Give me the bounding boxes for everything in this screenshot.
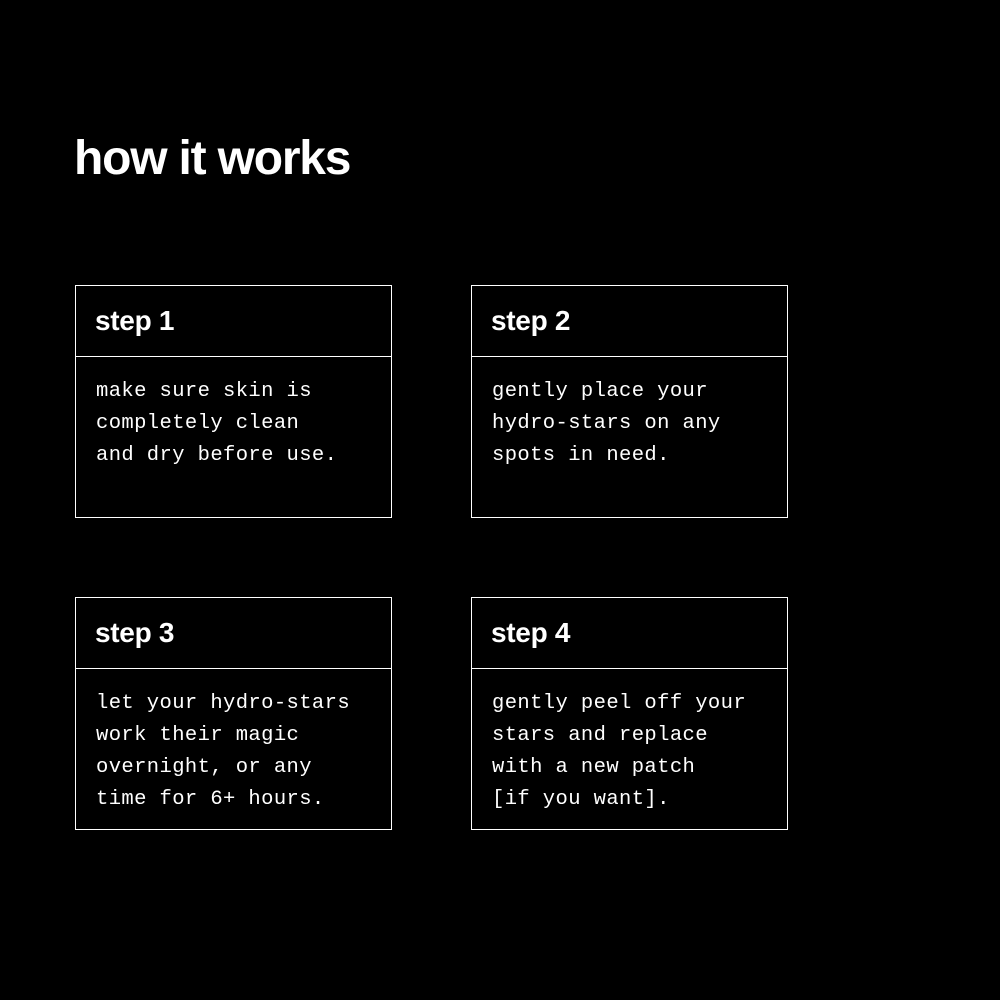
step-card-3-body: let your hydro-stars work their magic ov…: [76, 669, 391, 829]
steps-grid: step 1 make sure skin is completely clea…: [75, 285, 787, 830]
step-card-1-body: make sure skin is completely clean and d…: [76, 357, 391, 517]
step-card-1: step 1 make sure skin is completely clea…: [75, 285, 392, 518]
step-card-1-text: make sure skin is completely clean and d…: [96, 376, 377, 472]
step-card-2-header: step 2: [472, 286, 787, 357]
step-card-2-body: gently place your hydro-stars on any spo…: [472, 357, 787, 517]
step-card-4-text: gently peel off your stars and replace w…: [492, 688, 773, 816]
step-card-3-title: step 3: [95, 617, 174, 649]
step-card-2-title: step 2: [491, 305, 570, 337]
step-card-2: step 2 gently place your hydro-stars on …: [471, 285, 788, 518]
step-card-4-header: step 4: [472, 598, 787, 669]
step-card-2-text: gently place your hydro-stars on any spo…: [492, 376, 773, 472]
step-card-3: step 3 let your hydro-stars work their m…: [75, 597, 392, 830]
step-card-1-title: step 1: [95, 305, 174, 337]
step-card-3-header: step 3: [76, 598, 391, 669]
step-card-4-title: step 4: [491, 617, 570, 649]
step-card-3-text: let your hydro-stars work their magic ov…: [96, 688, 377, 816]
step-card-1-header: step 1: [76, 286, 391, 357]
step-card-4: step 4 gently peel off your stars and re…: [471, 597, 788, 830]
step-card-4-body: gently peel off your stars and replace w…: [472, 669, 787, 829]
how-it-works-page: how it works step 1 make sure skin is co…: [0, 0, 1000, 1000]
page-title: how it works: [74, 131, 350, 187]
